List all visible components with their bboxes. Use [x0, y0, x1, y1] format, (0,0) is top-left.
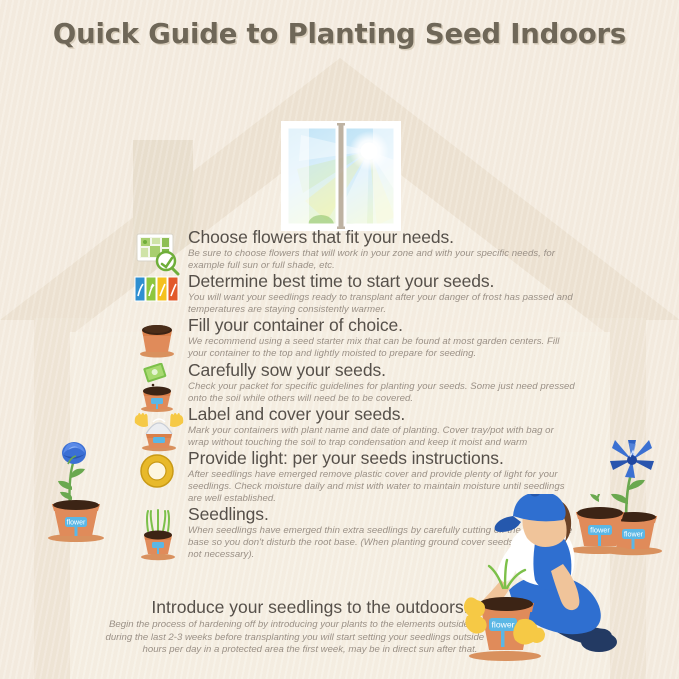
step-body: Be sure to choose flowers that will work… [188, 248, 577, 272]
step-heading: Provide light: per your seeds instructio… [188, 449, 577, 468]
step-heading: Fill your container of choice. [188, 316, 577, 335]
step-item: Carefully sow your seeds. Check your pac… [133, 361, 577, 405]
seasons-calendar-icon [133, 274, 185, 322]
svg-text:flower: flower [492, 620, 515, 630]
page-title: Quick Guide to Planting Seed Indoors [0, 18, 679, 50]
step-item: Choose flowers that fit your needs. Be s… [133, 228, 577, 272]
seed-packet-sowing-icon [133, 363, 185, 411]
garden-plan-magnifier-icon [133, 230, 185, 278]
plant-tag-label: flower [67, 520, 86, 527]
background-pot: flower [569, 494, 629, 554]
gardener-illustration: flower [447, 494, 679, 679]
seedlings-pot-icon [133, 507, 185, 555]
step-body: Mark your containers with plant name and… [188, 425, 577, 449]
gloves-covered-pot-icon [133, 407, 185, 455]
blue-rose-in-pot-illustration: flower [36, 412, 116, 542]
step-item: Label and cover your seeds. Mark your co… [133, 405, 577, 449]
step-heading: Determine best time to start your seeds. [188, 272, 577, 291]
step-body: We recommend using a seed starter mix th… [188, 336, 577, 360]
step-heading: Carefully sow your seeds. [188, 361, 577, 380]
step-body: You will want your seedlings ready to tr… [188, 292, 577, 316]
step-item: Fill your container of choice. We recomm… [133, 316, 577, 360]
step-body: Check your packet for specific guideline… [188, 381, 577, 405]
window-illustration [281, 121, 401, 231]
step-heading: Label and cover your seeds. [188, 405, 577, 424]
step-item: Determine best time to start your seeds.… [133, 272, 577, 316]
step-heading: Choose flowers that fit your needs. [188, 228, 577, 247]
svg-text:flower: flower [590, 526, 610, 535]
sun-light-ring-icon [133, 451, 185, 499]
infographic-canvas: Quick Guide to Planting Seed Indoors [0, 0, 679, 679]
filled-pot-icon [133, 318, 185, 366]
